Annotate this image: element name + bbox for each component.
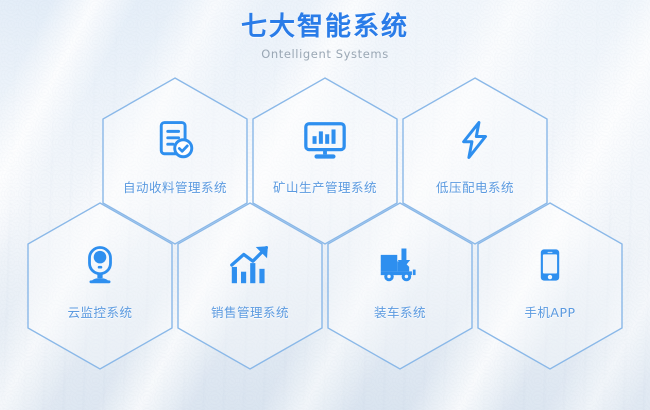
growth-chart-icon	[227, 242, 273, 288]
truck-load-icon	[377, 242, 423, 288]
hexagon-card-sales-management[interactable]: 销售管理系统	[177, 202, 323, 370]
hexagon-content: 手机APP	[477, 202, 623, 370]
hexagon-card-truck-loading[interactable]: 装车系统	[327, 202, 473, 370]
page-subtitle: Ontelligent Systems	[0, 47, 650, 61]
infographic-canvas: 七大智能系统 Ontelligent Systems 自动收料管理系统	[0, 0, 650, 410]
lightning-bolt-icon	[452, 117, 498, 163]
hexagon-card-mobile-app[interactable]: 手机APP	[477, 202, 623, 370]
header: 七大智能系统 Ontelligent Systems	[0, 14, 650, 61]
document-check-icon	[152, 117, 198, 163]
hexagon-label: 销售管理系统	[211, 302, 289, 321]
hexagon-label: 自动收料管理系统	[123, 177, 227, 196]
page-title: 七大智能系统	[0, 14, 650, 41]
camera-icon	[77, 242, 123, 288]
smartphone-icon	[527, 242, 573, 288]
hexagon-grid: 自动收料管理系统 矿山生产管理系统 低压配电系统	[0, 0, 650, 410]
hexagon-card-cloud-monitoring[interactable]: 云监控系统	[27, 202, 173, 370]
hexagon-label: 手机APP	[524, 302, 575, 321]
hexagon-label: 矿山生产管理系统	[273, 177, 377, 196]
hexagon-label: 云监控系统	[67, 302, 132, 321]
monitor-chart-icon	[302, 117, 348, 163]
hexagon-content: 销售管理系统	[177, 202, 323, 370]
hexagon-content: 云监控系统	[27, 202, 173, 370]
hexagon-label: 装车系统	[374, 302, 426, 321]
hexagon-label: 低压配电系统	[436, 177, 514, 196]
hexagon-content: 装车系统	[327, 202, 473, 370]
